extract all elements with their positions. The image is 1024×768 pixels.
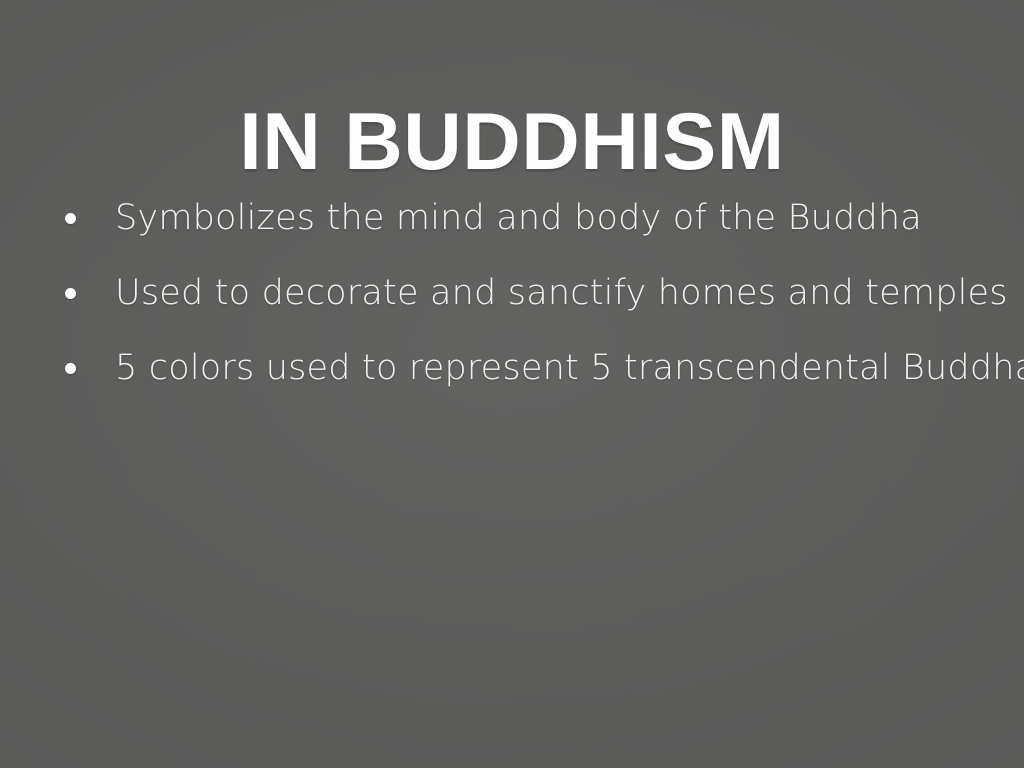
bullet-list: Symbolizes the mind and body of the Budd… bbox=[56, 196, 1008, 421]
bullet-dot-icon bbox=[65, 288, 76, 299]
page-title: IN BUDDHISM bbox=[0, 102, 1024, 183]
list-item-label: Symbolizes the mind and body of the Budd… bbox=[115, 196, 922, 240]
list-item: Symbolizes the mind and body of the Budd… bbox=[56, 196, 1008, 271]
list-item-label: 5 colors used to represent 5 transcenden… bbox=[115, 346, 1024, 390]
list-item-label: Used to decorate and sanctify homes and … bbox=[115, 271, 1008, 315]
list-item: Used to decorate and sanctify homes and … bbox=[56, 271, 1008, 346]
list-item: 5 colors used to represent 5 transcenden… bbox=[56, 346, 1008, 421]
bullet-dot-icon bbox=[65, 363, 76, 374]
presentation-slide: IN BUDDHISM Symbolizes the mind and body… bbox=[0, 0, 1024, 768]
bullet-dot-icon bbox=[65, 213, 76, 224]
